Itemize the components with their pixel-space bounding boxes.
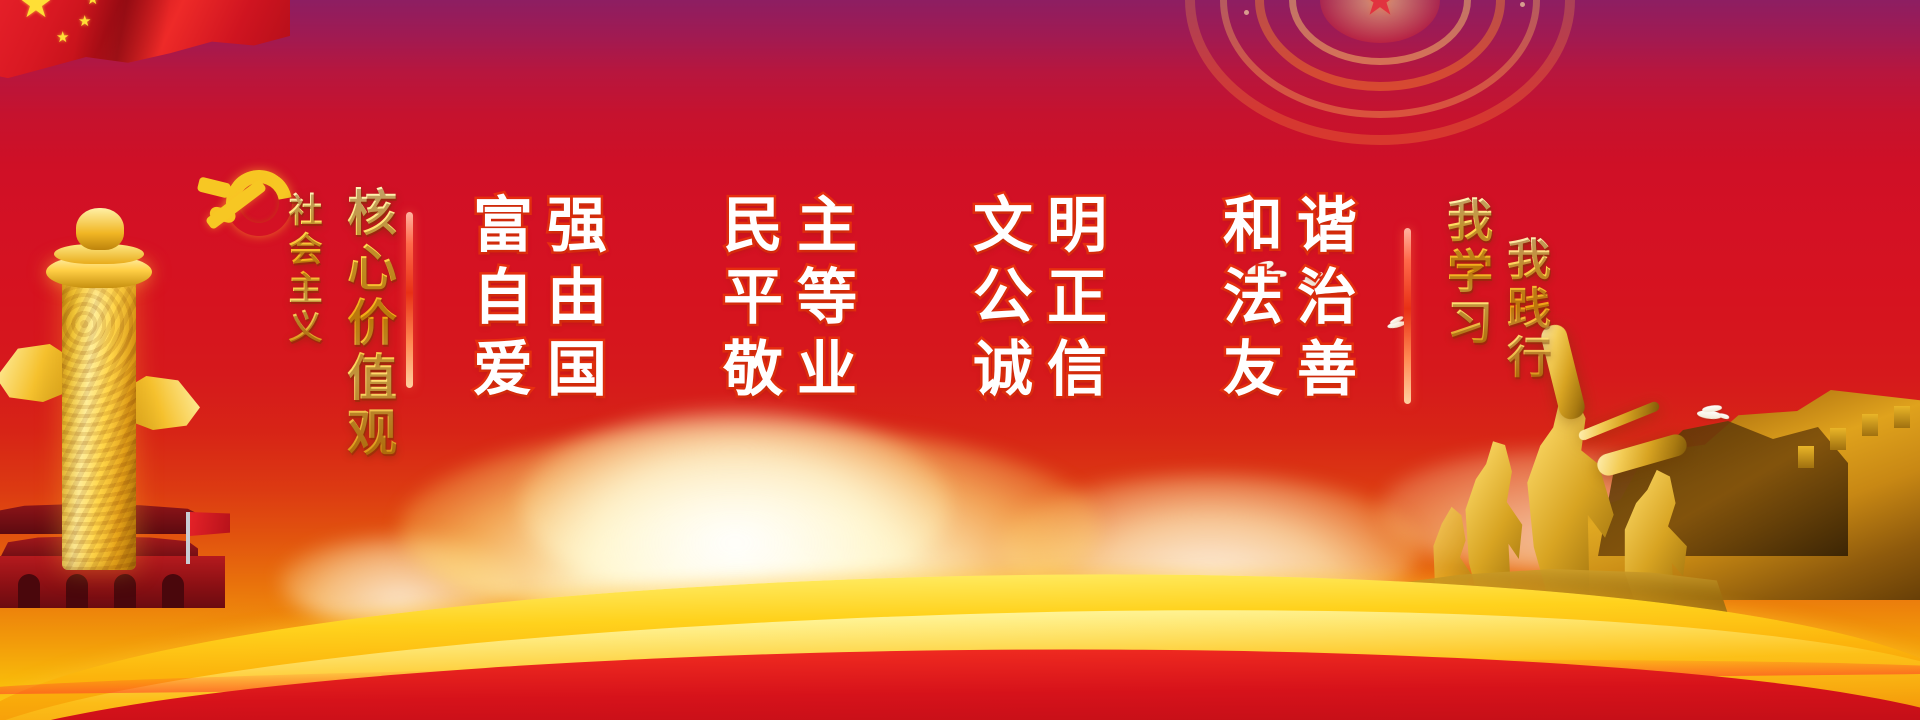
value-hexie: 和谐 (1190, 196, 1390, 258)
monument-pointing-arm (1595, 432, 1690, 479)
values-row-1: 富强 民主 文明 和谐 (440, 196, 1390, 258)
huabiao-column (10, 190, 200, 570)
hammer-head-icon (197, 176, 232, 198)
cloud-large-center-highlight (520, 410, 950, 600)
value-chengxin: 诚信 (940, 340, 1140, 402)
flag-star-large: ★ (18, 0, 54, 24)
divider-right (1404, 228, 1411, 404)
radial-rosette-decoration: ★ (1180, 0, 1580, 150)
tiananmen-arch-2 (66, 574, 88, 608)
value-jingye: 敬业 (690, 340, 890, 402)
value-aiguo: 爱国 (440, 340, 640, 402)
huabiao-shaft (62, 270, 136, 570)
tiananmen-arch-1 (18, 574, 40, 608)
flag-star-small-3: ★ (78, 14, 91, 29)
heading-socialism-vertical: 社会主义 (278, 192, 327, 348)
slogan-i-study-vertical: 我学习 (1434, 196, 1500, 349)
value-wenming: 文明 (940, 196, 1140, 258)
wall-crenellation-1 (1894, 406, 1910, 428)
value-fuqiang: 富强 (440, 196, 640, 258)
flag-star-small-4: ★ (56, 30, 69, 45)
slogan-i-practice-vertical: 我践行 (1492, 236, 1556, 383)
heading-core-values-vertical: 核心价值观 (332, 186, 404, 461)
value-pingdeng: 平等 (690, 268, 890, 330)
tiananmen-arch-4 (162, 574, 184, 608)
value-youshan: 友善 (1190, 340, 1390, 402)
wall-crenellation-3 (1830, 428, 1846, 450)
rosette-dots (1180, 0, 1580, 150)
monument-rifle-banner (1577, 400, 1660, 441)
national-flag: ★ ★ ★ ★ ★ (0, 0, 320, 106)
value-gongzheng: 公正 (940, 268, 1140, 330)
values-row-3: 爱国 敬业 诚信 友善 (440, 340, 1390, 402)
core-values-grid: 富强 民主 文明 和谐 自由 平等 公正 法治 爱国 敬业 诚信 友善 (440, 196, 1390, 411)
value-fazhi: 法治 (1190, 268, 1390, 330)
values-row-2: 自由 平等 公正 法治 (440, 268, 1390, 330)
socialist-core-values-banner: ★ ★ ★ ★ ★ ★ (0, 0, 1920, 720)
wall-crenellation-2 (1862, 414, 1878, 436)
wall-crenellation-4 (1798, 446, 1814, 468)
value-ziyou: 自由 (440, 268, 640, 330)
value-minzhu: 民主 (690, 196, 890, 258)
divider-left (406, 212, 413, 388)
huabiao-hou-beast (76, 208, 124, 250)
flag-star-small-2: ★ (86, 0, 99, 7)
tiananmen-arch-3 (114, 574, 136, 608)
